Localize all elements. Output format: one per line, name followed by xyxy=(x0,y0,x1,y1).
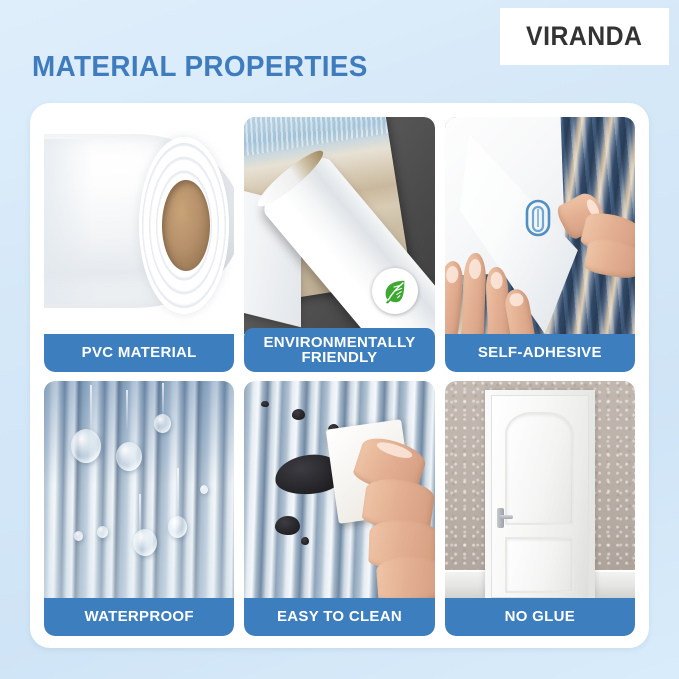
feature-card-environmentally-friendly[interactable]: ENVIRONMENTALLY FRIENDLY xyxy=(244,117,434,372)
stain-mark xyxy=(275,516,300,536)
water-droplet xyxy=(71,429,101,463)
door-frame xyxy=(485,390,595,598)
water-droplet xyxy=(154,414,171,433)
self-adhesive-image xyxy=(445,117,635,334)
feature-label-waterproof: WATERPROOF xyxy=(44,598,234,636)
feature-label-self-adhesive: SELF-ADHESIVE xyxy=(445,334,635,372)
environmentally-friendly-image xyxy=(244,117,434,334)
pvc-material-image xyxy=(44,117,234,334)
waterproof-image xyxy=(44,381,234,598)
paperclip-icon xyxy=(521,197,555,239)
feature-card-self-adhesive[interactable]: SELF-ADHESIVE xyxy=(445,117,635,372)
feature-label-pvc-material: PVC MATERIAL xyxy=(44,334,234,372)
water-droplet xyxy=(133,529,157,556)
pvc-cardboard-core-icon xyxy=(162,180,210,271)
water-droplet xyxy=(168,516,187,538)
page-title: MATERIAL PROPERTIES xyxy=(32,51,368,84)
feature-card-easy-to-clean[interactable]: EASY TO CLEAN xyxy=(244,381,434,636)
feature-label-easy-to-clean: EASY TO CLEAN xyxy=(244,598,434,636)
door-handle-icon xyxy=(497,508,504,528)
stain-mark xyxy=(301,537,309,544)
right-hand-icon xyxy=(559,186,635,281)
water-droplet xyxy=(116,442,142,471)
stain-mark xyxy=(292,409,305,420)
feature-label-environmentally-friendly: ENVIRONMENTALLY FRIENDLY xyxy=(244,328,434,372)
stain-mark xyxy=(261,401,269,408)
brand-name: VIRANDA xyxy=(526,21,642,52)
hand-icon xyxy=(355,437,435,598)
feature-card-waterproof[interactable]: WATERPROOF xyxy=(44,381,234,636)
features-grid: PVC MATERIAL xyxy=(44,117,635,636)
leaf-icon xyxy=(372,268,418,314)
features-panel: PVC MATERIAL xyxy=(30,103,649,648)
feature-card-no-glue[interactable]: NO GLUE xyxy=(445,381,635,636)
left-hand-icon xyxy=(445,247,536,334)
feature-card-pvc-material[interactable]: PVC MATERIAL xyxy=(44,117,234,372)
door-icon xyxy=(491,395,589,598)
no-glue-image xyxy=(445,381,635,598)
feature-label-no-glue: NO GLUE xyxy=(445,598,635,636)
brand-badge: VIRANDA xyxy=(500,8,669,65)
easy-to-clean-image xyxy=(244,381,434,598)
